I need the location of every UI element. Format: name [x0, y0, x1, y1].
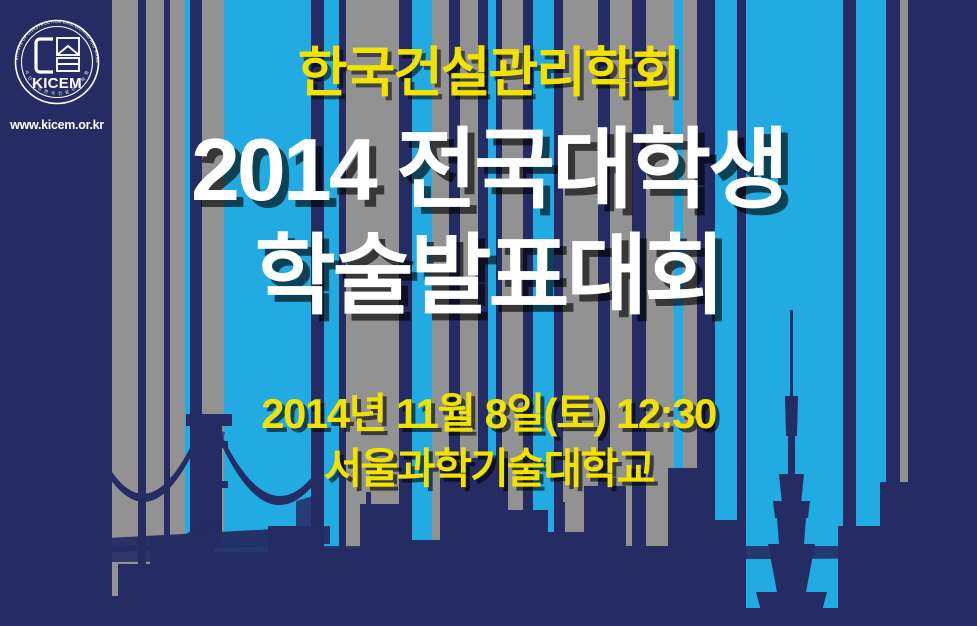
background-stripe — [598, 0, 610, 626]
background-stripe — [856, 0, 886, 626]
kicem-seal-icon: KOREA INSTITUTE OF CONSTRUCTION ENGINEER… — [7, 12, 107, 112]
poster-canvas: KOREA INSTITUTE OF CONSTRUCTION ENGINEER… — [0, 0, 977, 626]
background-stripe — [488, 0, 496, 626]
background-stripe — [610, 0, 632, 626]
background-stripe — [632, 0, 646, 626]
background-stripe — [146, 0, 164, 626]
background-stripe — [190, 0, 202, 626]
background-stripe — [554, 0, 563, 626]
background-stripe — [697, 0, 715, 626]
background-stripe — [412, 0, 432, 626]
background-stripe — [646, 0, 674, 626]
background-stripe — [523, 0, 533, 626]
background-stripe — [478, 0, 488, 626]
svg-text:KICEM: KICEM — [32, 75, 82, 92]
striped-background — [0, 0, 977, 626]
background-stripe — [112, 0, 138, 626]
svg-text:KOREA INSTITUTE OF CONSTRUCTIO: KOREA INSTITUTE OF CONSTRUCTION ENGINEER… — [7, 12, 100, 63]
background-stripe — [339, 0, 346, 626]
background-stripe — [533, 0, 554, 626]
background-stripe — [746, 0, 843, 626]
background-stripe — [449, 0, 460, 626]
background-stripe — [202, 0, 224, 626]
background-stripe — [502, 0, 523, 626]
background-stripe — [460, 0, 478, 626]
background-stripe — [324, 0, 339, 626]
background-stripe — [843, 0, 856, 626]
background-stripe — [399, 0, 412, 626]
background-stripe — [563, 0, 598, 626]
background-stripe — [886, 0, 900, 626]
kicem-logo: KOREA INSTITUTE OF CONSTRUCTION ENGINEER… — [4, 12, 110, 132]
background-stripe — [432, 0, 449, 626]
kicem-website-url: www.kicem.or.kr — [4, 118, 110, 132]
background-stripe — [683, 0, 697, 626]
background-stripe — [138, 0, 146, 626]
background-stripe — [224, 0, 311, 626]
background-stripe — [737, 0, 746, 626]
background-stripe — [715, 0, 737, 626]
background-stripe — [311, 0, 324, 626]
background-stripe — [674, 0, 683, 626]
background-stripe — [900, 0, 908, 626]
background-stripe — [908, 0, 977, 626]
background-stripe — [170, 0, 185, 626]
logo-panel: KOREA INSTITUTE OF CONSTRUCTION ENGINEER… — [0, 0, 112, 626]
background-stripe — [346, 0, 399, 626]
